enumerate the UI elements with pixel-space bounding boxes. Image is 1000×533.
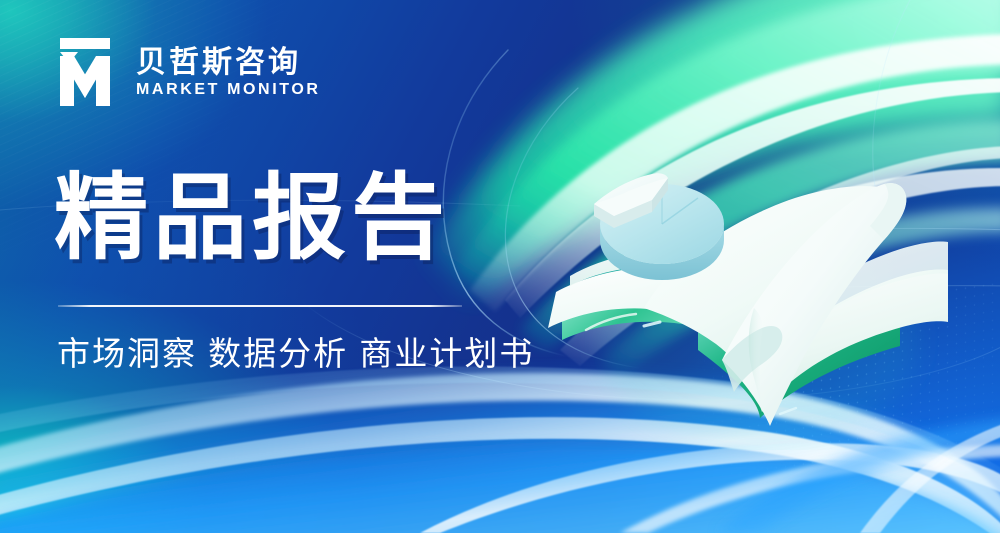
promo-banner: 贝哲斯咨询 MARKET MONITOR 精品报告 市场洞察 数据分析 商业计划…	[0, 0, 1000, 533]
subtitle-text: 市场洞察 数据分析 商业计划书	[57, 333, 534, 374]
open-book-with-pie-chart-illustration	[548, 150, 948, 450]
brand-logo: 贝哲斯咨询 MARKET MONITOR	[52, 36, 321, 108]
brand-name-en: MARKET MONITOR	[136, 81, 321, 99]
market-monitor-m-mark-icon	[52, 36, 118, 108]
headline-title: 精品报告	[54, 168, 450, 268]
brand-name-cn: 贝哲斯咨询	[136, 46, 321, 79]
title-divider	[58, 305, 462, 307]
